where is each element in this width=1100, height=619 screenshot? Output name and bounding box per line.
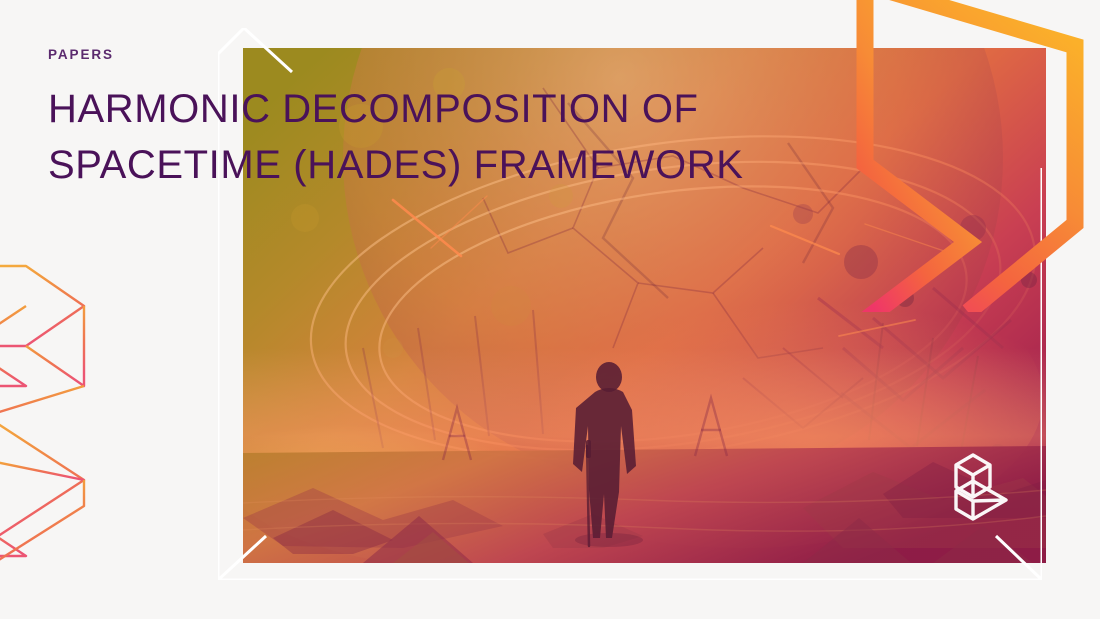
page-title-line-1: HARMONIC DECOMPOSITION OF: [48, 87, 699, 131]
category-label: PAPERS: [48, 48, 748, 62]
page-title-line-2: SPACETIME (HADES) FRAMEWORK: [48, 143, 744, 187]
page-title: .dtxt { font-family:"Liberation Sans", s…: [48, 80, 748, 205]
title-block: PAPERS .dtxt { font-family:"Liberation S…: [48, 48, 748, 205]
isometric-b-outline-logo: [0, 248, 158, 578]
banner-canvas: PAPERS .dtxt { font-family:"Liberation S…: [0, 0, 1100, 619]
